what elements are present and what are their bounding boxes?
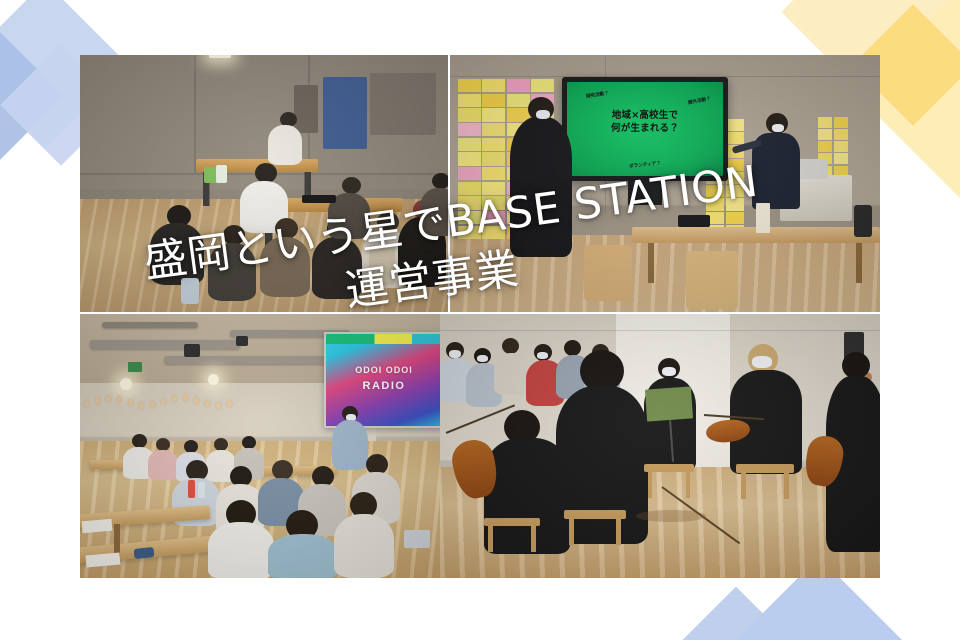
photo-top-right: 探究活動？ 課外活動？ 地域×高校生で 何が生まれる？ ボランティア？	[450, 55, 880, 312]
photo-bottom-right	[440, 314, 880, 578]
slide-canvas: 探究活動？ 課外活動？ 地域×高校生で 何が生まれる？ ボランティア？	[0, 0, 960, 640]
photo-collage: 探究活動？ 課外活動？ 地域×高校生で 何が生まれる？ ボランティア？	[80, 55, 880, 578]
slide-subtitle: ODOI ODOI	[326, 365, 440, 375]
screen-main-line2: 何が生まれる？	[581, 123, 709, 136]
screen-note-bottom: ボランティア？	[629, 160, 661, 169]
screen-note-top-right: 課外活動？	[687, 96, 711, 106]
blue-diamond-top-left-2	[0, 28, 64, 164]
photo-bottom-row: ODOI ODOI RADIO	[80, 314, 880, 578]
slide-word: RADIO	[326, 380, 440, 392]
presentation-monitor: 探究活動？ 課外活動？ 地域×高校生で 何が生まれる？ ボランティア？	[562, 77, 728, 181]
screen-main-text: 地域×高校生で 何が生まれる？	[581, 110, 709, 136]
photo-top-left	[80, 55, 448, 312]
screen-note-top-left: 探究活動？	[585, 91, 609, 101]
music-stand-icon	[645, 386, 693, 421]
screen-main-line1: 地域×高校生で	[581, 110, 709, 123]
blue-diamond-bottom-right-1	[662, 586, 809, 640]
photo-bottom-left: ODOI ODOI RADIO	[80, 314, 440, 578]
